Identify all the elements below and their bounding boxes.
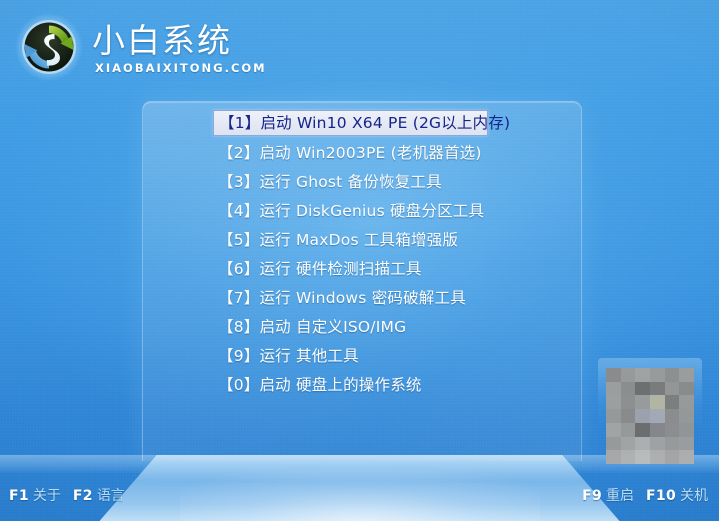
- mosaic-tile: [650, 437, 665, 451]
- menu-item-6[interactable]: 【6】运行 硬件检测扫描工具: [213, 255, 495, 284]
- mosaic-tile: [621, 382, 636, 396]
- menu-item-7[interactable]: 【7】运行 Windows 密码破解工具: [213, 284, 495, 313]
- mosaic-tile: [665, 437, 680, 451]
- mosaic-tile: [665, 423, 680, 437]
- footer-key-f2: F2: [73, 488, 93, 504]
- mosaic-tile: [635, 409, 650, 423]
- footer-label-f2[interactable]: 语言: [97, 488, 125, 504]
- mosaic-tile: [650, 382, 665, 396]
- mosaic-tile: [679, 409, 694, 423]
- footer-label-f1[interactable]: 关于: [33, 488, 61, 504]
- mosaic-tile: [679, 437, 694, 451]
- mosaic-tile: [679, 382, 694, 396]
- mosaic-tile: [606, 450, 621, 464]
- mosaic-tile: [650, 409, 665, 423]
- censored-watermark-block: [606, 368, 694, 464]
- mosaic-tile: [635, 450, 650, 464]
- mosaic-tile: [606, 395, 621, 409]
- menu-item-5[interactable]: 【5】运行 MaxDos 工具箱增强版: [213, 226, 495, 255]
- menu-item-3[interactable]: 【3】运行 Ghost 备份恢复工具: [213, 168, 495, 197]
- mosaic-tile: [606, 409, 621, 423]
- brand-text: 小白系统 XIAOBAIXITONG.COM: [92, 22, 267, 75]
- mosaic-tile: [650, 368, 665, 382]
- footer-label-f10[interactable]: 关机: [680, 488, 708, 504]
- footer-key-f9: F9: [582, 488, 602, 504]
- mosaic-tile: [679, 423, 694, 437]
- mosaic-tile: [621, 368, 636, 382]
- mosaic-tile: [606, 423, 621, 437]
- footer-key-f10: F10: [646, 488, 676, 504]
- menu-item-1[interactable]: 【1】启动 Win10 X64 PE (2G以上内存): [213, 110, 488, 136]
- brand-subtitle: XIAOBAIXITONG.COM: [95, 61, 267, 75]
- mosaic-tile: [650, 395, 665, 409]
- mosaic-tile: [621, 423, 636, 437]
- mosaic-tile: [621, 409, 636, 423]
- menu-item-9[interactable]: 【9】运行 其他工具: [213, 342, 495, 371]
- mosaic-tile: [635, 382, 650, 396]
- mosaic-tile: [606, 382, 621, 396]
- brand-title: 小白系统: [92, 22, 267, 60]
- mosaic-tile: [650, 450, 665, 464]
- mosaic-tile: [621, 450, 636, 464]
- footer-hints-right: F9重启F10关机: [582, 485, 708, 505]
- mosaic-tile: [606, 368, 621, 382]
- mosaic-tile: [665, 368, 680, 382]
- mosaic-tile: [621, 437, 636, 451]
- mosaic-tile: [679, 395, 694, 409]
- mosaic-tile: [679, 368, 694, 382]
- mosaic-tile: [650, 423, 665, 437]
- pedestal-shape: [100, 455, 620, 521]
- mosaic-tile: [665, 382, 680, 396]
- boot-menu-screen: 小白系统 XIAOBAIXITONG.COM 【1】启动 Win10 X64 P…: [0, 0, 719, 521]
- footer-label-f9[interactable]: 重启: [606, 488, 634, 504]
- mosaic-tile: [635, 423, 650, 437]
- menu-item-4[interactable]: 【4】运行 DiskGenius 硬盘分区工具: [213, 197, 495, 226]
- brand-logo: 小白系统 XIAOBAIXITONG.COM: [14, 12, 267, 82]
- mosaic-tile: [606, 437, 621, 451]
- mosaic-tile: [665, 409, 680, 423]
- mosaic-tile: [665, 395, 680, 409]
- mosaic-tile: [635, 437, 650, 451]
- footer-key-f1: F1: [9, 488, 29, 504]
- menu-item-2[interactable]: 【2】启动 Win2003PE (老机器首选): [213, 139, 495, 168]
- boot-menu-list[interactable]: 【1】启动 Win10 X64 PE (2G以上内存)【2】启动 Win2003…: [213, 110, 495, 400]
- mosaic-tile: [635, 368, 650, 382]
- menu-item-8[interactable]: 【8】启动 自定义ISO/IMG: [213, 313, 495, 342]
- mosaic-tile: [665, 450, 680, 464]
- footer-hints-left: F1关于F2语言: [9, 485, 125, 505]
- mosaic-tile: [621, 395, 636, 409]
- mosaic-tile: [635, 395, 650, 409]
- mosaic-tile: [679, 450, 694, 464]
- circular-refresh-logo-icon: [14, 12, 84, 82]
- menu-item-0[interactable]: 【0】启动 硬盘上的操作系统: [213, 371, 495, 400]
